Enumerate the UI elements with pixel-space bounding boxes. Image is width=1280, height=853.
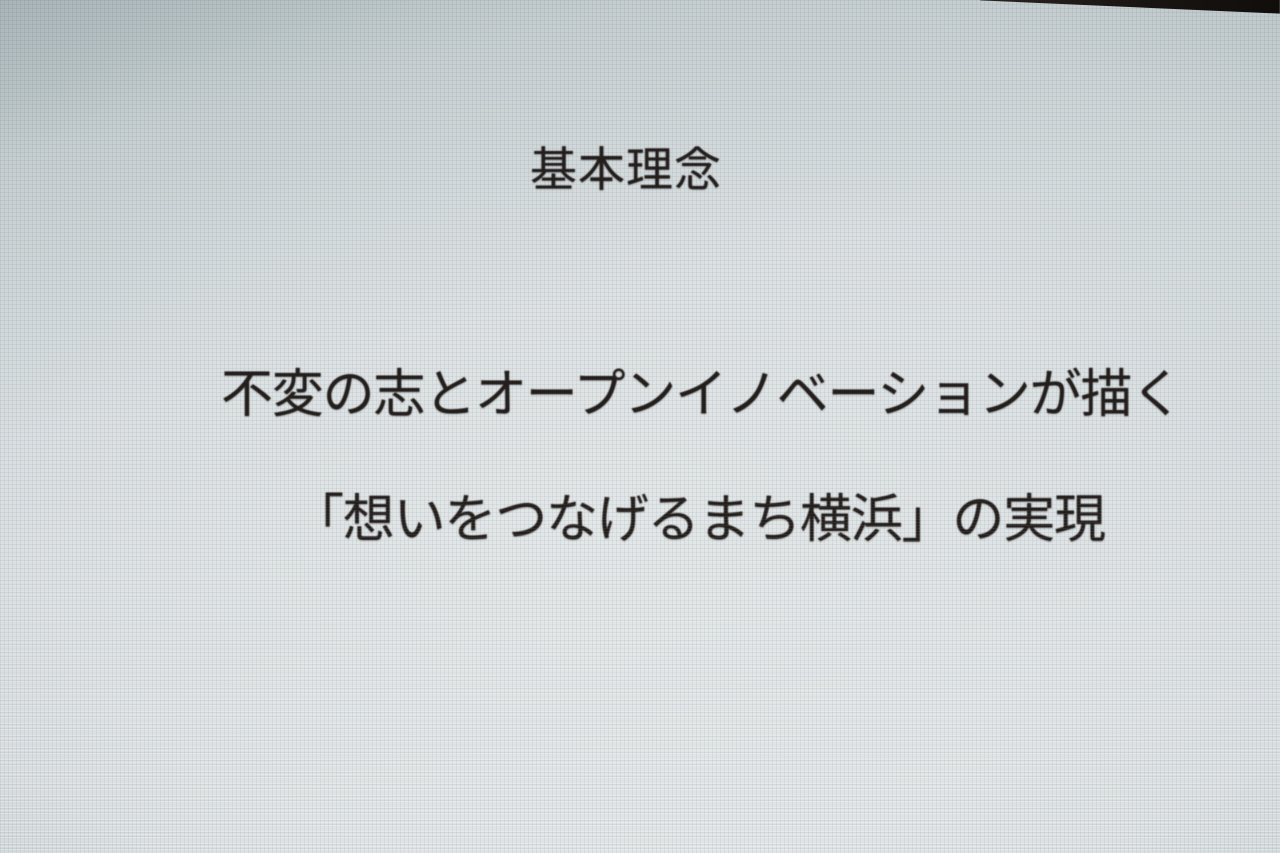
slide-body-line-2: 「想いをつなげるまち横浜」の実現 bbox=[292, 477, 1105, 552]
slide-title: 基本理念 bbox=[0, 131, 1266, 200]
slide-body-line-1: 不変の志とオープンイノベーションが描く bbox=[221, 352, 1182, 427]
projection-screen-photo: 基本理念 不変の志とオープンイノベーションが描く 「想いをつなげるまち横浜」の実… bbox=[0, 0, 1280, 853]
presentation-slide: 基本理念 不変の志とオープンイノベーションが描く 「想いをつなげるまち横浜」の実… bbox=[0, 0, 1280, 853]
